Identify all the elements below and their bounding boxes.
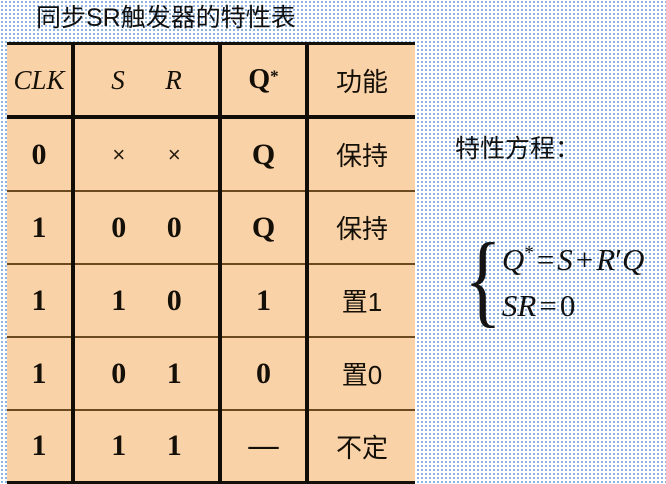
header-label-r: R <box>165 65 182 96</box>
cell-clk: 1 <box>7 337 73 410</box>
eq1-plus: + <box>573 242 596 277</box>
value-s: 1 <box>111 284 126 318</box>
cell-clk: 1 <box>7 410 73 483</box>
value-q-next: Q <box>252 211 275 244</box>
characteristic-equation-label: 特性方程： <box>455 132 580 166</box>
header-label-s: S <box>111 65 125 96</box>
eq1-asterisk-icon: * <box>524 243 534 264</box>
eq1-term3: Q <box>622 242 644 277</box>
cell-q-next: 1 <box>220 264 307 337</box>
eq1-lhs: Q <box>502 242 524 277</box>
cell-s-r: 1 1 <box>73 410 220 483</box>
cell-q-next: — <box>220 410 307 483</box>
value-s: × <box>112 142 125 168</box>
header-cell-clk: CLK <box>7 44 73 118</box>
eq1-term2: R <box>596 242 615 277</box>
value-function: 保持 <box>336 214 388 244</box>
cell-q-next: 0 <box>220 337 307 410</box>
cell-function: 不定 <box>307 410 415 483</box>
eq1-term1: S <box>557 242 573 277</box>
header-cell-function: 功能 <box>307 44 415 118</box>
cell-s-r: 0 1 <box>73 337 220 410</box>
value-q-next: — <box>249 429 279 462</box>
value-clk: 1 <box>32 284 47 317</box>
value-function: 不定 <box>336 433 388 463</box>
eq2-rhs: 0 <box>560 288 576 323</box>
cell-function: 保持 <box>307 117 415 191</box>
cell-function: 置1 <box>307 264 415 337</box>
cell-q-next: Q <box>220 191 307 264</box>
header-label-q-next: Q <box>248 64 270 95</box>
characteristic-equation-block: { Q*=S+R′Q SR=0 <box>458 228 644 338</box>
value-r: 1 <box>167 357 182 391</box>
cell-s-r: 1 0 <box>73 264 220 337</box>
cell-s-r: × × <box>73 117 220 191</box>
cell-q-next: Q <box>220 117 307 191</box>
value-clk: 1 <box>32 429 47 462</box>
value-r: 0 <box>167 284 182 318</box>
left-brace-icon: { <box>464 228 501 332</box>
equation-lines: Q*=S+R′Q SR=0 <box>502 242 644 324</box>
value-clk: 1 <box>32 357 47 390</box>
value-function: 保持 <box>336 141 388 171</box>
table-row: 0 × × Q 保持 <box>7 117 415 191</box>
eq1-prime-icon: ′ <box>615 242 622 277</box>
header-q-next-asterisk-icon: * <box>270 67 279 86</box>
value-clk: 0 <box>32 138 47 171</box>
table-row: 1 0 1 0 置0 <box>7 337 415 410</box>
header-cell-s-r: S R <box>73 44 220 118</box>
value-s: 1 <box>111 429 126 463</box>
value-r: 1 <box>167 429 182 463</box>
eq1-equals: = <box>534 242 557 277</box>
equation-line-1: Q*=S+R′Q <box>502 242 644 278</box>
value-function: 置0 <box>342 360 382 390</box>
header-label-clk: CLK <box>13 65 64 95</box>
table-row: 1 1 0 1 置1 <box>7 264 415 337</box>
eq2-lhs: SR <box>502 288 536 323</box>
header-label-function: 功能 <box>336 67 388 97</box>
value-q-next: 1 <box>256 284 271 317</box>
equation-line-2: SR=0 <box>502 288 644 324</box>
cell-clk: 1 <box>7 191 73 264</box>
value-s: 0 <box>111 211 126 245</box>
cell-clk: 1 <box>7 264 73 337</box>
value-clk: 1 <box>32 211 47 244</box>
cell-function: 置0 <box>307 337 415 410</box>
page-title: 同步SR触发器的特性表 <box>36 1 296 35</box>
cell-clk: 0 <box>7 117 73 191</box>
value-q-next: Q <box>252 138 275 171</box>
value-q-next: 0 <box>256 357 271 390</box>
cell-function: 保持 <box>307 191 415 264</box>
table-header-row: CLK S R Q* 功能 <box>7 44 415 118</box>
cell-s-r: 0 0 <box>73 191 220 264</box>
characteristic-table: CLK S R Q* 功能 0 × × <box>7 42 415 484</box>
eq2-equals: = <box>536 288 559 323</box>
table-row: 1 0 0 Q 保持 <box>7 191 415 264</box>
value-r: 0 <box>167 211 182 245</box>
table-row: 1 1 1 — 不定 <box>7 410 415 483</box>
value-function: 置1 <box>342 287 382 317</box>
value-r: × <box>168 142 181 168</box>
header-cell-q-next: Q* <box>220 44 307 118</box>
value-s: 0 <box>111 357 126 391</box>
